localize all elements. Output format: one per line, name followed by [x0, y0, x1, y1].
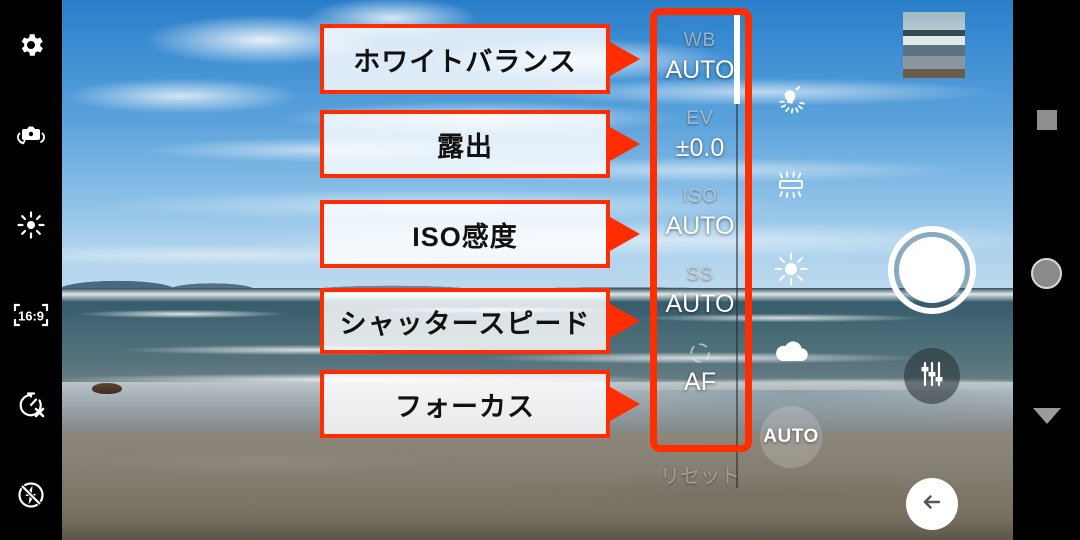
callout-white-balance-label: ホワイトバランス — [353, 40, 576, 79]
callout-iso: ISO感度 — [320, 200, 610, 268]
callout-exposure: 露出 — [320, 110, 610, 178]
sliders-icon — [917, 359, 947, 394]
aspect-ratio-icon: 16:9 — [12, 302, 50, 328]
callout-arrow-focus — [610, 387, 640, 421]
triangle-down-icon[interactable] — [1033, 408, 1061, 424]
brightness-sun-icon — [15, 209, 47, 241]
reset-button[interactable]: リセット — [652, 460, 748, 489]
flash-off-button[interactable] — [0, 450, 62, 540]
callout-focus-label: フォーカス — [395, 385, 535, 424]
square-icon[interactable] — [1037, 110, 1057, 130]
wb-option-incandescent[interactable] — [760, 74, 822, 136]
preview-rock — [92, 383, 122, 394]
thumb-sand — [903, 69, 965, 78]
highlight-box — [650, 8, 752, 452]
timer-off-icon — [15, 389, 47, 421]
callout-focus: フォーカス — [320, 370, 610, 438]
white-balance-options: AUTO — [760, 74, 822, 494]
brightness-button[interactable] — [0, 180, 62, 270]
manual-controls-toggle-button[interactable] — [904, 348, 960, 404]
callout-white-balance: ホワイトバランス — [320, 24, 610, 94]
arrow-left-icon — [918, 488, 946, 521]
callout-iso-label: ISO感度 — [412, 215, 518, 254]
wb-option-auto[interactable]: AUTO — [760, 406, 822, 468]
flash-off-icon — [15, 479, 47, 511]
wb-auto-label: AUTO — [763, 426, 818, 448]
callout-arrow-white-balance — [610, 42, 640, 76]
shutter-button-inner[interactable] — [899, 237, 965, 303]
thumb-sky — [903, 12, 965, 30]
cloud-icon — [771, 336, 811, 371]
gear-icon — [16, 30, 46, 60]
switch-camera-button[interactable] — [0, 90, 62, 180]
circle-icon[interactable] — [1031, 258, 1062, 289]
camera-screen: 16:9 — [0, 0, 1080, 540]
fluorescent-tube-icon — [772, 166, 810, 209]
callout-shutter-speed-label: シャッタースピード — [340, 302, 591, 341]
left-toolbar: 16:9 — [0, 0, 62, 540]
svg-text:16:9: 16:9 — [18, 309, 44, 324]
system-nav-bar — [1013, 0, 1080, 540]
callout-arrow-shutter-speed — [610, 304, 640, 338]
callout-exposure-label: 露出 — [437, 125, 493, 164]
thumb-wet-sand — [903, 56, 965, 70]
back-button[interactable] — [906, 478, 958, 530]
aspect-ratio-button[interactable]: 16:9 — [0, 270, 62, 360]
callout-arrow-iso — [610, 217, 640, 251]
light-bulb-icon — [773, 85, 809, 126]
sun-icon — [772, 250, 810, 293]
callout-arrow-exposure — [610, 127, 640, 161]
self-timer-off-button[interactable] — [0, 360, 62, 450]
last-photo-thumbnail[interactable] — [903, 12, 965, 78]
wb-option-fluorescent[interactable] — [760, 156, 822, 218]
camera-switch-icon — [14, 120, 48, 150]
wb-option-cloudy[interactable] — [760, 322, 822, 384]
callout-shutter-speed: シャッタースピード — [320, 288, 610, 354]
settings-button[interactable] — [0, 0, 62, 90]
wb-option-daylight[interactable] — [760, 240, 822, 302]
